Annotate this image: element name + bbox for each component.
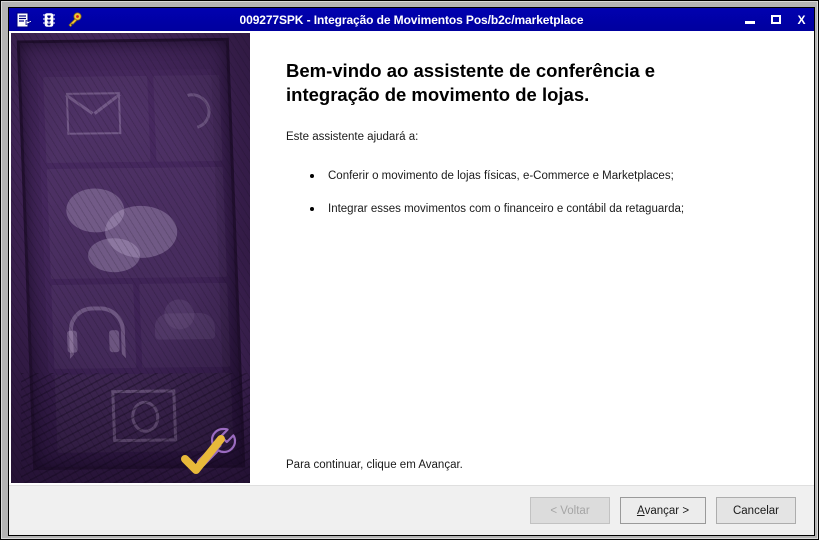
window-client-area: 009277SPK - Integração de Movimentos Pos…: [8, 7, 815, 536]
window-bevel: 009277SPK - Integração de Movimentos Pos…: [1, 1, 818, 539]
minimize-button[interactable]: [743, 13, 756, 26]
envelope-icon: [66, 92, 122, 135]
tablet-screen: [37, 69, 223, 375]
intro-text: Este assistente ajudará a:: [286, 131, 418, 143]
wizard-side-image: [11, 33, 250, 483]
page-title: Bem-vindo ao assistente de conferência e…: [286, 59, 746, 108]
window-controls: X: [743, 8, 808, 31]
key-icon[interactable]: [66, 12, 82, 28]
cancel-button[interactable]: Cancelar: [716, 497, 796, 524]
continue-hint: Para continuar, clique em Avançar.: [286, 459, 463, 471]
tablet-illustration: [17, 38, 246, 470]
title-bar-icon-group: [9, 12, 82, 28]
wizard-text-panel: Bem-vindo ao assistente de conferência e…: [256, 31, 814, 485]
next-button[interactable]: Avançar >: [620, 497, 706, 524]
maximize-button[interactable]: [769, 13, 782, 26]
list-item: Integrar esses movimentos com o financei…: [286, 202, 786, 217]
document-properties-icon[interactable]: [16, 12, 32, 28]
button-bar: < Voltar Avançar > Cancelar: [530, 497, 796, 524]
list-item: Conferir o movimento de lojas físicas, e…: [286, 169, 786, 184]
cloud-icon: [154, 313, 215, 340]
next-button-accelerator: A: [637, 505, 645, 517]
wrench-check-icon: [177, 415, 241, 477]
back-button[interactable]: < Voltar: [530, 497, 610, 524]
close-button[interactable]: X: [795, 13, 808, 26]
camera-icon: [111, 389, 177, 442]
wizard-content: Bem-vindo ao assistente de conferência e…: [9, 31, 814, 485]
traffic-light-icon[interactable]: [41, 12, 57, 28]
headphones-ear-right: [109, 330, 120, 352]
application-window: 009277SPK - Integração de Movimentos Pos…: [0, 0, 819, 540]
dialog-footer: < Voltar Avançar > Cancelar: [9, 485, 814, 535]
next-button-label: vançar >: [645, 505, 689, 517]
headphones-ear-left: [67, 331, 78, 353]
feature-bullet-list: Conferir o movimento de lojas físicas, e…: [286, 169, 786, 235]
title-bar[interactable]: 009277SPK - Integração de Movimentos Pos…: [9, 8, 814, 31]
window-title: 009277SPK - Integração de Movimentos Pos…: [9, 13, 814, 27]
